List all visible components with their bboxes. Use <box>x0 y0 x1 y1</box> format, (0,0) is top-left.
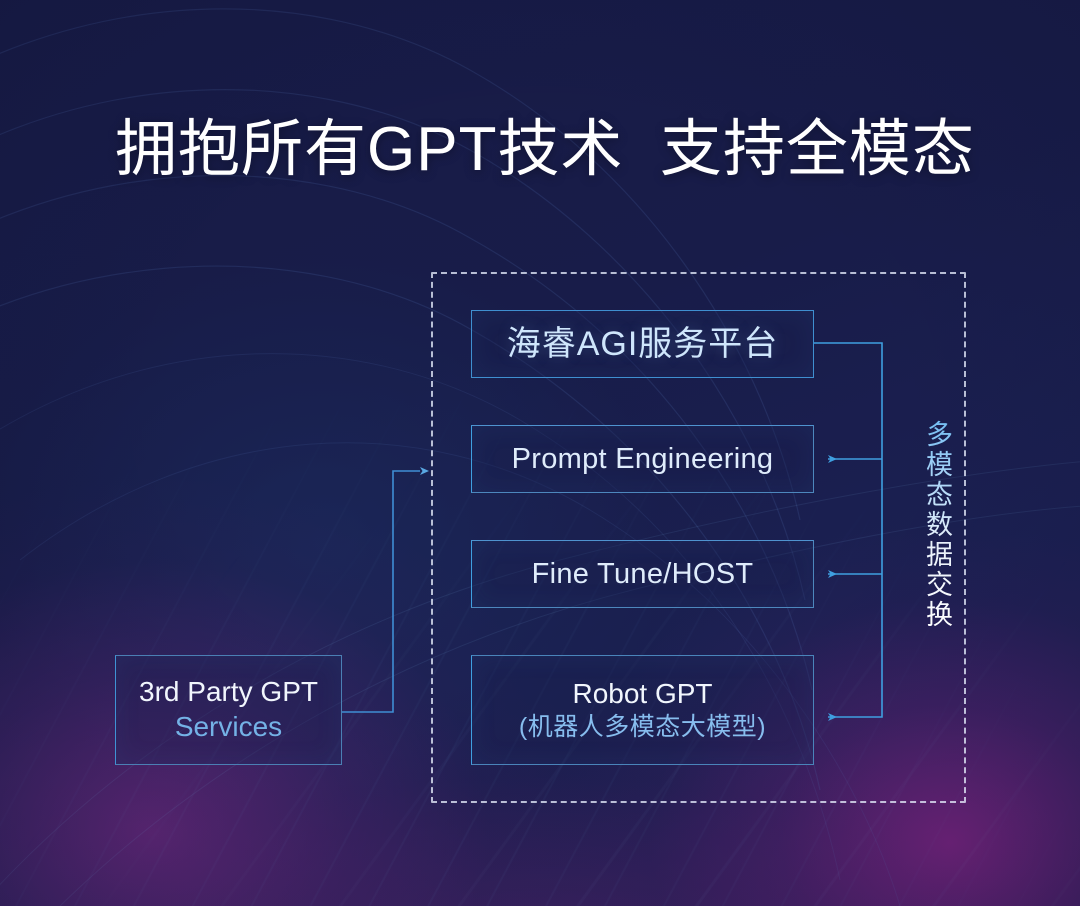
node-third-party-gpt[interactable]: 3rd Party GPT Services <box>115 655 342 765</box>
slide-canvas: 拥抱所有GPT技术 支持全模态 海睿AGI服务平台 Prompt Enginee… <box>0 0 1080 906</box>
node-robot-gpt-sublabel: (机器人多模态大模型) <box>472 711 813 743</box>
node-third-party-gpt-sublabel: Services <box>116 709 341 745</box>
node-third-party-gpt-label: 3rd Party GPT <box>116 675 341 709</box>
node-robot-gpt[interactable]: Robot GPT (机器人多模态大模型) <box>471 655 814 765</box>
node-prompt-engineering[interactable]: Prompt Engineering <box>471 425 814 493</box>
side-label-data-exchange: 多模态数据交换 <box>914 420 954 630</box>
node-agi-platform[interactable]: 海睿AGI服务平台 <box>471 310 814 378</box>
node-fine-tune-host-label: Fine Tune/HOST <box>472 557 813 591</box>
node-fine-tune-host[interactable]: Fine Tune/HOST <box>471 540 814 608</box>
node-prompt-engineering-label: Prompt Engineering <box>472 442 813 476</box>
node-robot-gpt-label: Robot GPT <box>472 677 813 711</box>
node-agi-platform-label: 海睿AGI服务平台 <box>472 324 813 364</box>
slide-title: 拥抱所有GPT技术 支持全模态 <box>115 112 975 188</box>
